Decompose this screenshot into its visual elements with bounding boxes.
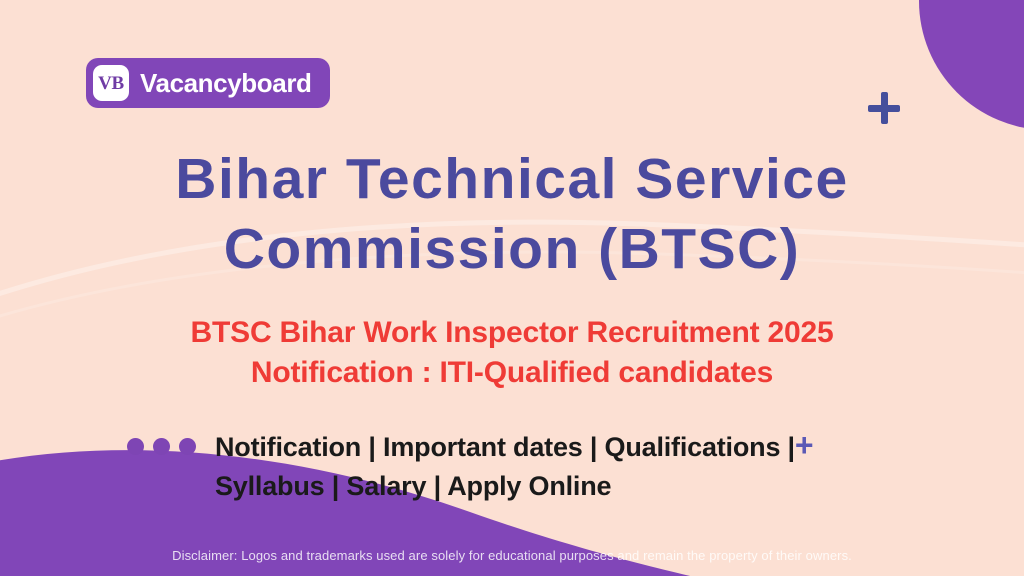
vb-monogram-text: VB [98, 74, 124, 93]
plus-icon-inline: + [795, 427, 814, 463]
promo-banner: VB Vacancyboard Bihar Technical Service … [0, 0, 1024, 576]
bullet-dot-icon [127, 438, 144, 455]
disclaimer-text: Disclaimer: Logos and trademarks used ar… [0, 549, 1024, 562]
circle-decoration-top-right [919, 0, 1024, 130]
topic-list: Notification | Important dates | Qualifi… [0, 428, 1024, 506]
vb-monogram-icon: VB [93, 65, 129, 101]
topic-list-text: Notification | Important dates | Qualifi… [215, 428, 813, 506]
brand-name: Vacancyboard [140, 70, 312, 96]
brand-logo-badge[interactable]: VB Vacancyboard [86, 58, 330, 108]
page-title: Bihar Technical Service Commission (BTSC… [0, 145, 1024, 284]
bullet-dot-icon [153, 438, 170, 455]
plus-icon-decoration [868, 92, 900, 124]
bullet-dots-group [127, 428, 196, 455]
page-subtitle: BTSC Bihar Work Inspector Recruitment 20… [0, 313, 1024, 393]
bullet-dot-icon [179, 438, 196, 455]
